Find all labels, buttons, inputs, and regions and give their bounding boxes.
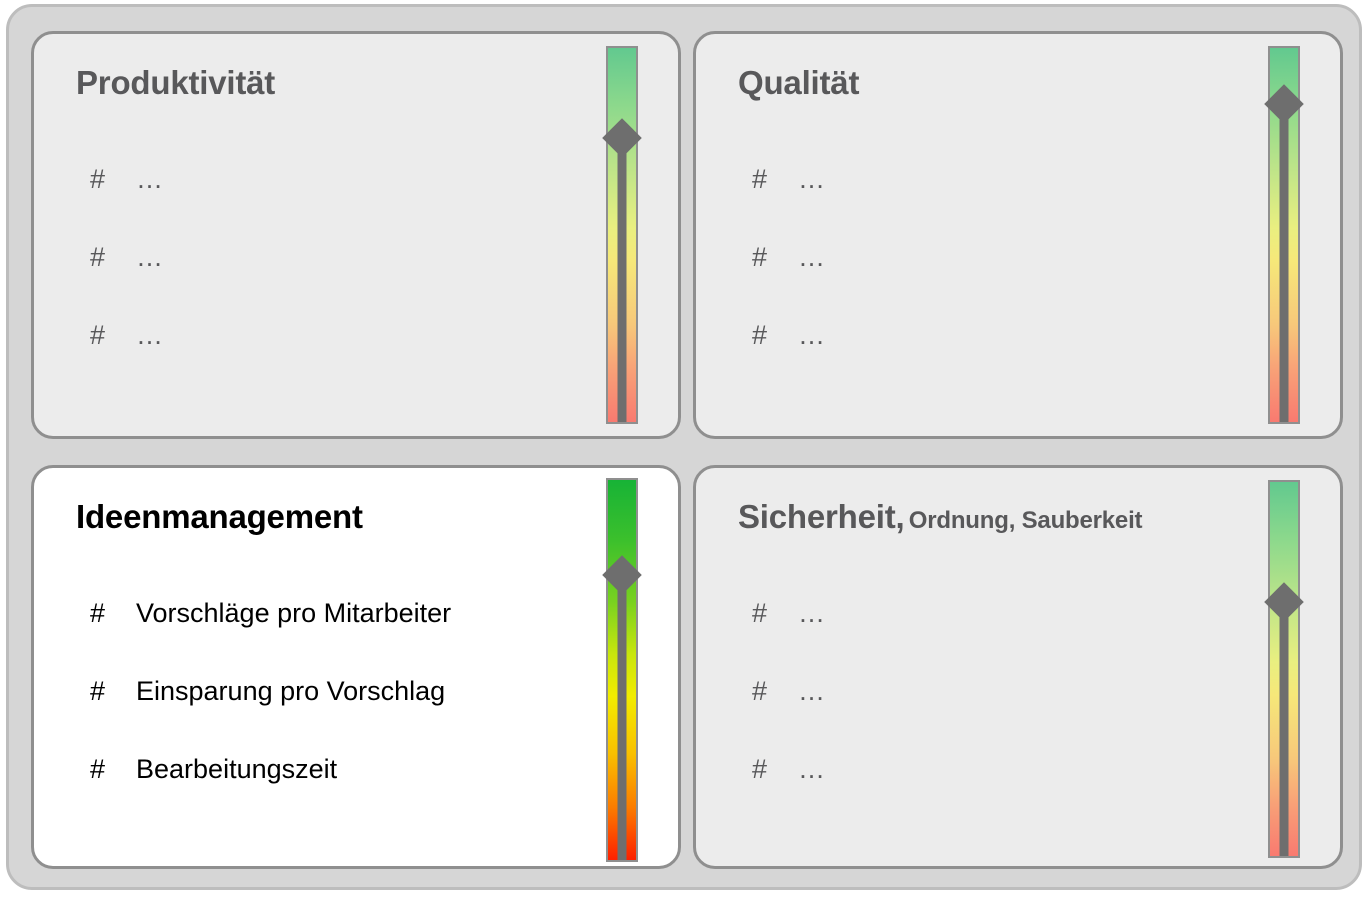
metric-label: … [798,164,825,195]
metric-label: … [798,242,825,273]
panel-ideenmanagement[interactable]: Ideenmanagement # Vorschläge pro Mitarbe… [31,465,681,869]
hash-icon: # [90,676,136,707]
metric-row[interactable]: # Vorschläge pro Mitarbeiter [90,598,610,676]
gauge-qualitaet[interactable] [1268,46,1300,424]
hash-icon: # [90,598,136,629]
metric-row[interactable]: # … [752,598,1272,676]
board-container: Produktivität # … # … # … [6,4,1362,890]
metric-label: … [798,598,825,629]
metric-label: … [136,164,163,195]
metric-row[interactable]: # … [752,164,1272,242]
metric-list: # … # … # … [752,598,1272,832]
metric-row[interactable]: # Einsparung pro Vorschlag [90,676,610,754]
gauge-sicherheit[interactable] [1268,480,1300,858]
hash-icon: # [752,676,798,707]
hash-icon: # [752,320,798,351]
panel-title-sub: Ordnung, Sauberkeit [909,507,1143,534]
metric-list: # … # … # … [752,164,1272,398]
gauge-needle-stem [1280,104,1289,422]
hash-icon: # [90,242,136,273]
metric-label: Vorschläge pro Mitarbeiter [136,598,451,629]
metric-row[interactable]: # … [90,242,610,320]
panel-grid: Produktivität # … # … # … [31,31,1343,869]
metric-list: # Vorschläge pro Mitarbeiter # Einsparun… [90,598,610,832]
metric-label: … [798,676,825,707]
gauge-needle-diamond-icon[interactable] [602,118,642,158]
metric-row[interactable]: # … [752,754,1272,832]
metric-label: … [136,320,163,351]
metric-list: # … # … # … [90,164,610,398]
hash-icon: # [90,164,136,195]
panel-title-ideenmanagement: Ideenmanagement [76,498,363,536]
hash-icon: # [752,242,798,273]
panel-produktivitaet[interactable]: Produktivität # … # … # … [31,31,681,439]
metric-label: … [136,242,163,273]
metric-row[interactable]: # … [90,164,610,242]
gauge-ideenmanagement[interactable] [606,478,638,862]
metric-row[interactable]: # Bearbeitungszeit [90,754,610,832]
gauge-needle-stem [618,575,627,860]
metric-row[interactable]: # … [90,320,610,398]
gauge-needle-stem [618,138,627,422]
metric-label: … [798,320,825,351]
panel-qualitaet[interactable]: Qualität # … # … # … [693,31,1343,439]
gauge-needle-stem [1280,602,1289,856]
panel-title-main: Sicherheit, [738,498,905,535]
gauge-produktivitaet[interactable] [606,46,638,424]
metric-row[interactable]: # … [752,676,1272,754]
hash-icon: # [90,754,136,785]
metric-label: … [798,754,825,785]
panel-title-main: Ideenmanagement [76,498,363,535]
panel-title-qualitaet: Qualität [738,64,859,102]
metric-row[interactable]: # … [752,242,1272,320]
metric-label: Einsparung pro Vorschlag [136,676,445,707]
metric-label: Bearbeitungszeit [136,754,337,785]
hash-icon: # [752,754,798,785]
gauge-needle-diamond-icon[interactable] [1264,84,1304,124]
panel-sicherheit-ordnung-sauberkeit[interactable]: Sicherheit, Ordnung, Sauberkeit # … # … … [693,465,1343,869]
gauge-needle-diamond-icon[interactable] [602,555,642,595]
gauge-needle-diamond-icon[interactable] [1264,582,1304,622]
panel-title-main: Qualität [738,64,859,101]
panel-title-sicherheit: Sicherheit, Ordnung, Sauberkeit [738,498,1142,536]
metric-row[interactable]: # … [752,320,1272,398]
panel-title-main: Produktivität [76,64,275,101]
panel-title-produktivitaet: Produktivität [76,64,275,102]
hash-icon: # [752,164,798,195]
hash-icon: # [752,598,798,629]
hash-icon: # [90,320,136,351]
